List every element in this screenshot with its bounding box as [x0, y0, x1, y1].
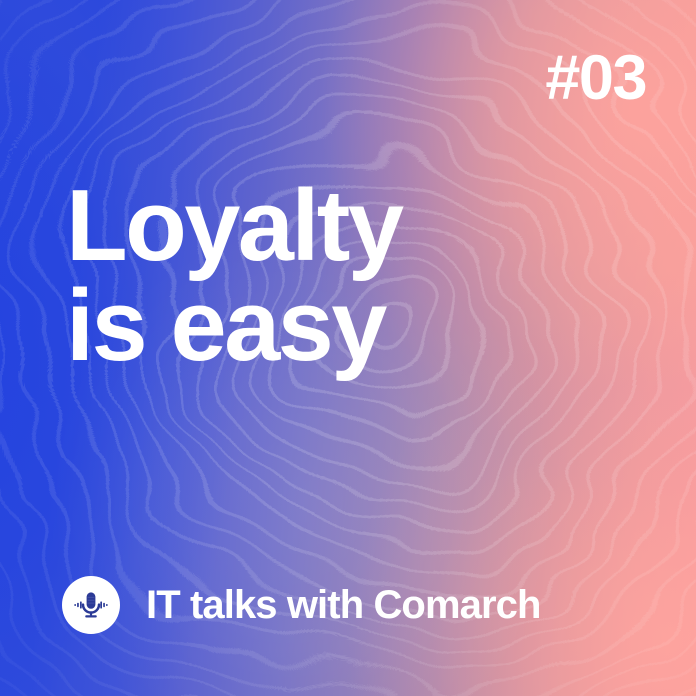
podcast-cover-artwork: #03 Loyalty is easy [0, 0, 696, 696]
brand-lockup: IT talks with Comarch [62, 576, 541, 634]
microphone-icon [71, 585, 111, 625]
page-title: Loyalty is easy [66, 176, 401, 376]
brand-name: IT talks with Comarch [146, 585, 541, 625]
podcast-badge [62, 576, 120, 634]
episode-number: #03 [545, 47, 646, 110]
